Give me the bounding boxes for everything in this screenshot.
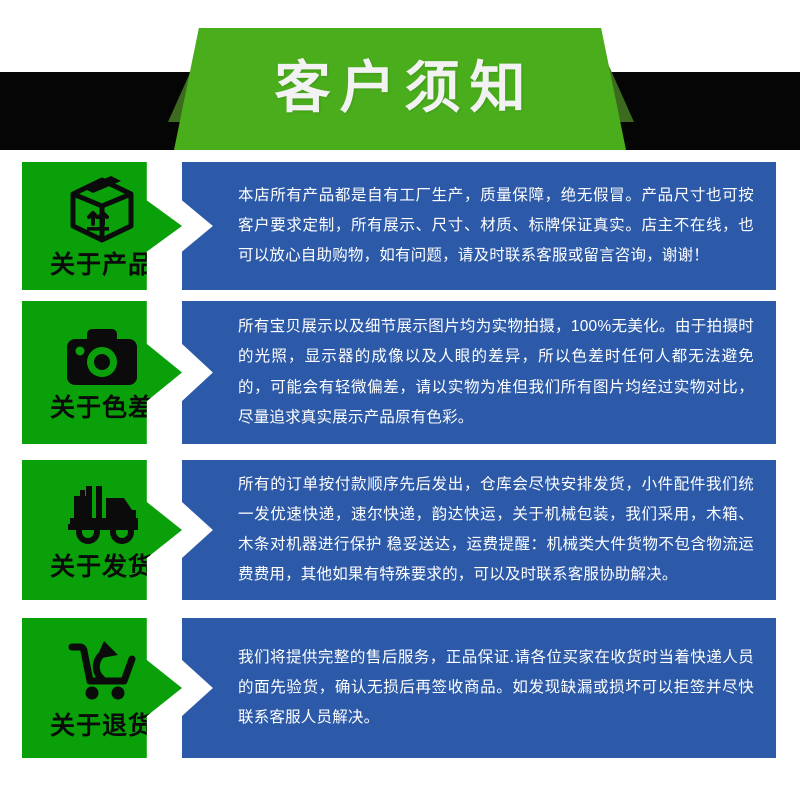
package-box-icon [65, 174, 139, 249]
notice-rows: 关于产品 本店所有产品都是自有工厂生产，质量保障，绝无假冒。产品尺寸也可按客户要… [0, 152, 800, 765]
notice-row: 关于发货 所有的订单按付款顺序先后发出，仓库会尽快安排发货，小件配件我们统一发优… [0, 457, 800, 615]
ribbon-banner: 客户须知 [174, 28, 626, 150]
header-banner: 客户须知 [0, 0, 800, 152]
panel-text: 我们将提供完整的售后服务，正品保证.请各位买家在收货时当着快递人员的面先验货，确… [182, 643, 776, 734]
notice-row: 关于退货 我们将提供完整的售后服务，正品保证.请各位买家在收货时当着快递人员的面… [0, 615, 800, 765]
customer-notice-page: 客户须知 [0, 0, 800, 800]
panel-text: 所有宝贝展示以及细节展示图片均为实物拍摄，100%无美化。由于拍摄时的光照，显示… [182, 312, 776, 433]
page-title: 客户须知 [266, 60, 535, 118]
return-cart-icon [62, 637, 142, 710]
tab-about-return[interactable]: 关于退货 [22, 618, 182, 758]
panel-about-product: 本店所有产品都是自有工厂生产，质量保障，绝无假冒。产品尺寸也可按客户要求定制，所… [182, 162, 776, 290]
camera-icon [64, 325, 140, 392]
tab-label: 关于退货 [50, 714, 154, 739]
tab-about-product[interactable]: 关于产品 [22, 162, 182, 290]
forklift-icon [60, 480, 144, 551]
tab-about-shipping[interactable]: 关于发货 [22, 460, 182, 600]
panel-about-color: 所有宝贝展示以及细节展示图片均为实物拍摄，100%无美化。由于拍摄时的光照，显示… [182, 301, 776, 444]
tab-label: 关于色差 [50, 396, 154, 421]
notice-row: 关于色差 所有宝贝展示以及细节展示图片均为实物拍摄，100%无美化。由于拍摄时的… [0, 297, 800, 457]
tab-label: 关于发货 [50, 555, 154, 580]
tab-label: 关于产品 [50, 253, 154, 278]
notice-row: 关于产品 本店所有产品都是自有工厂生产，质量保障，绝无假冒。产品尺寸也可按客户要… [0, 152, 800, 297]
panel-about-return: 我们将提供完整的售后服务，正品保证.请各位买家在收货时当着快递人员的面先验货，确… [182, 618, 776, 758]
panel-text: 本店所有产品都是自有工厂生产，质量保障，绝无假冒。产品尺寸也可按客户要求定制，所… [182, 181, 776, 272]
panel-text: 所有的订单按付款顺序先后发出，仓库会尽快安排发货，小件配件我们统一发优速快递，速… [182, 470, 776, 591]
panel-about-shipping: 所有的订单按付款顺序先后发出，仓库会尽快安排发货，小件配件我们统一发优速快递，速… [182, 460, 776, 600]
tab-about-color[interactable]: 关于色差 [22, 301, 182, 444]
